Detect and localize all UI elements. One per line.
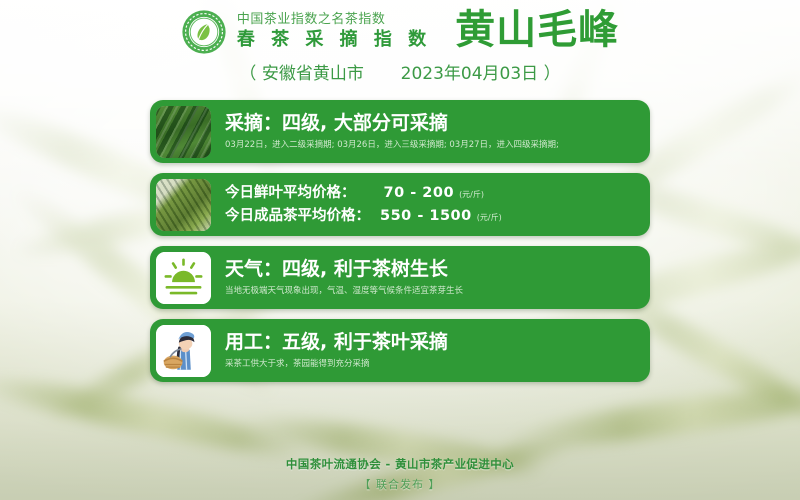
index-title: 春 茶 采 摘 指 数 [237,28,431,51]
date-label: 2023年04月03日 ） [401,64,561,84]
card-weather-body: 天气：四级, 利于茶树生长 当地无极端天气现象出现，气温、湿度等气候条件适宜茶芽… [211,258,463,298]
price-fresh-label: 今日鲜叶平均价格： [225,182,356,204]
price-finished-value: 550 - 1500 [380,205,472,227]
card-weather-title: 天气：四级, 利于茶树生长 [225,258,463,282]
footer-organizations: 中国茶叶流通协会 - 黄山市茶产业促进中心 [0,456,800,472]
index-subtitle: 中国茶业指数之名茶指数 [237,12,386,28]
card-picking-title: 采摘：四级, 大部分可采摘 [225,112,559,136]
card-price-body: 今日鲜叶平均价格： 70 - 200 (元/斤) 今日成品茶平均价格： 550 … [211,182,502,227]
price-fresh-value: 70 - 200 [384,182,455,204]
poster-canvas: 中国茶业指数之名茶指数 春 茶 采 摘 指 数 黄山毛峰 （ 安徽省黄山市 20… [0,0,800,500]
card-labour-subtitle: 采茶工供大于求，茶园能得到充分采摘 [225,358,448,371]
fresh-tea-leaves-photo [156,179,211,231]
price-row-fresh: 今日鲜叶平均价格： 70 - 200 (元/斤) [225,182,502,204]
tea-leaf-seal-icon [181,9,227,55]
index-card-list: 采摘：四级, 大部分可采摘 03月22日，进入二级采摘期; 03月26日，进入三… [150,100,650,382]
header-text-block: 中国茶业指数之名茶指数 春 茶 采 摘 指 数 [237,12,431,52]
region-date-line: （ 安徽省黄山市 2023年04月03日 ） [0,59,800,84]
card-picking[interactable]: 采摘：四级, 大部分可采摘 03月22日，进入二级采摘期; 03月26日，进入三… [150,100,650,163]
card-weather[interactable]: 天气：四级, 利于茶树生长 当地无极端天气现象出现，气温、湿度等气候条件适宜茶芽… [150,246,650,309]
region-label: （ 安徽省黄山市 [239,64,363,84]
price-finished-label: 今日成品茶平均价格： [225,205,370,227]
footer-joint-release: 【 联合发布 】 [0,476,800,492]
price-finished-unit: (元/斤) [477,212,502,224]
price-fresh-unit: (元/斤) [459,189,484,201]
tea-picker-worker-icon [156,325,211,377]
card-weather-subtitle: 当地无极端天气现象出现，气温、湿度等气候条件适宜茶芽生长 [225,285,463,298]
card-labour-title: 用工：五级, 利于茶叶采摘 [225,331,448,355]
poster-footer: 中国茶叶流通协会 - 黄山市茶产业促进中心 【 联合发布 】 [0,456,800,492]
card-labour[interactable]: 用工：五级, 利于茶叶采摘 采茶工供大于求，茶园能得到充分采摘 [150,319,650,382]
card-picking-subtitle: 03月22日，进入二级采摘期; 03月26日，进入三级采摘期; 03月27日，进… [225,139,559,152]
tea-plantation-photo [156,106,211,158]
card-price[interactable]: 今日鲜叶平均价格： 70 - 200 (元/斤) 今日成品茶平均价格： 550 … [150,173,650,236]
sunrise-weather-icon [156,252,211,304]
card-picking-body: 采摘：四级, 大部分可采摘 03月22日，进入二级采摘期; 03月26日，进入三… [211,112,559,152]
page-title: 黄山毛峰 [455,10,619,50]
card-labour-body: 用工：五级, 利于茶叶采摘 采茶工供大于求，茶园能得到充分采摘 [211,331,448,371]
poster-header: 中国茶业指数之名茶指数 春 茶 采 摘 指 数 黄山毛峰 [0,0,800,55]
price-row-finished: 今日成品茶平均价格： 550 - 1500 (元/斤) [225,205,502,227]
